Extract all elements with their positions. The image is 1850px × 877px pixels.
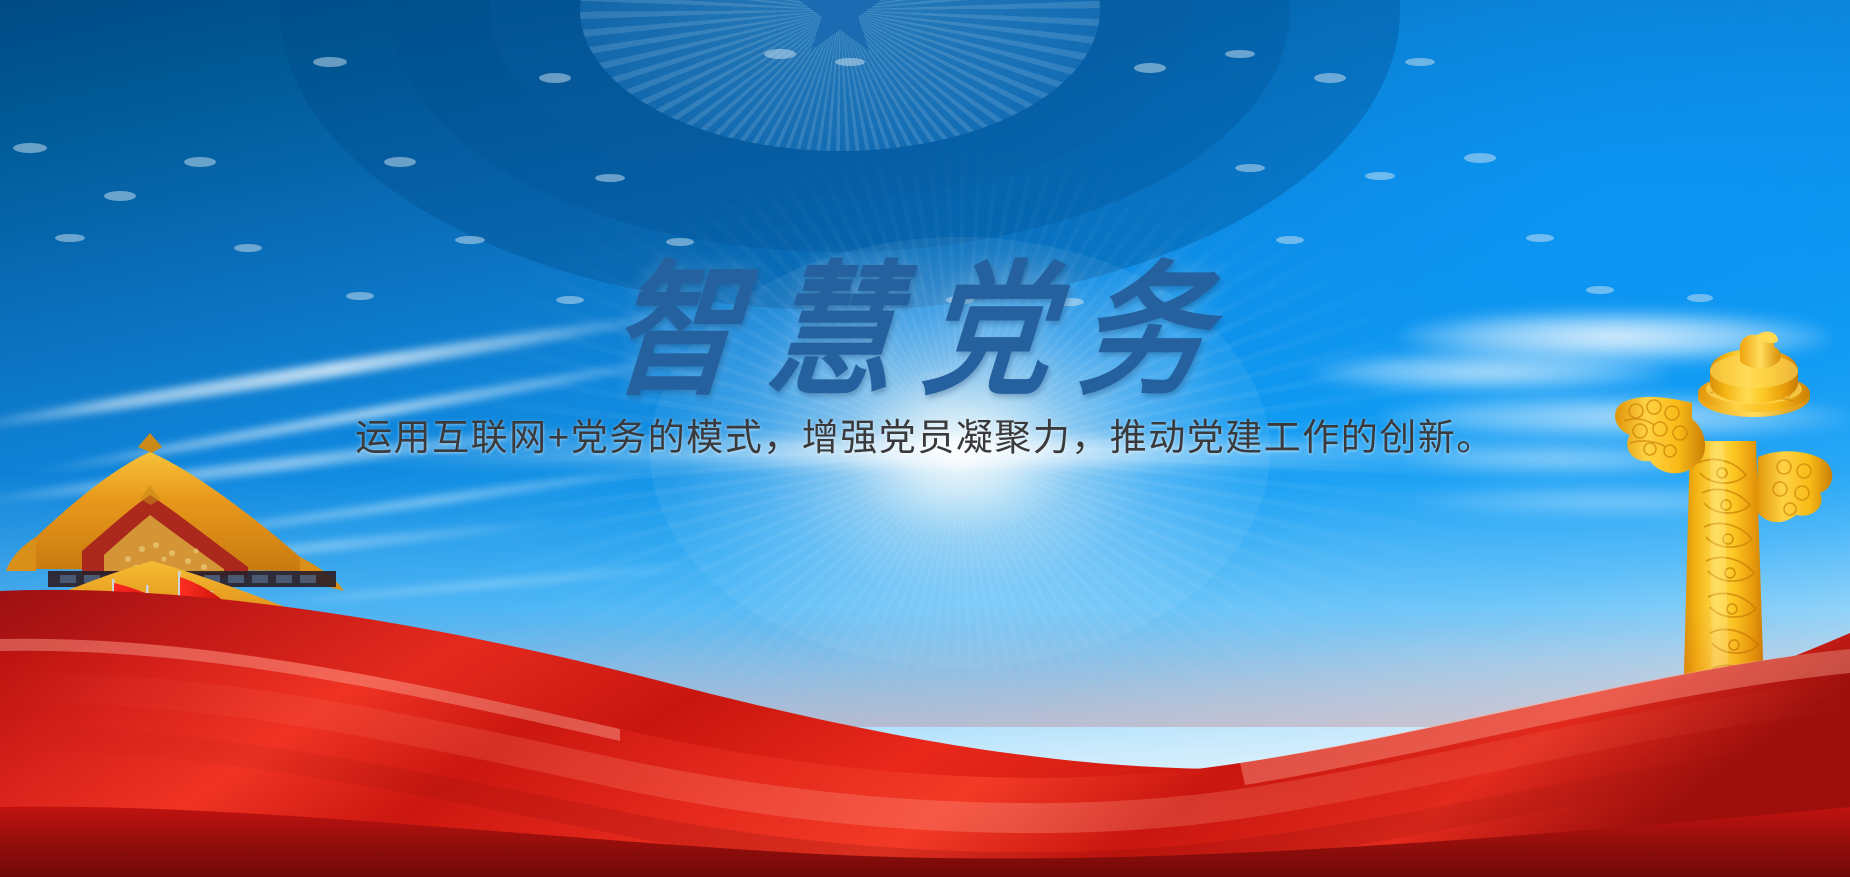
page-title: 智慧党务 bbox=[604, 214, 1246, 423]
page-subtitle: 运用互联网+党务的模式，增强党员凝聚力，推动党建工作的创新。 bbox=[355, 407, 1495, 461]
subtitle-container: 运用互联网+党务的模式，增强党员凝聚力，推动党建工作的创新。 bbox=[0, 407, 1850, 461]
title-container: 智慧党务 bbox=[0, 226, 1850, 411]
banner-root: 智慧党务 运用互联网+党务的模式，增强党员凝聚力，推动党建工作的创新。 bbox=[0, 0, 1850, 877]
red-silk-ribbon bbox=[0, 577, 1850, 877]
huabiao-cloud-board-right bbox=[1756, 451, 1832, 522]
